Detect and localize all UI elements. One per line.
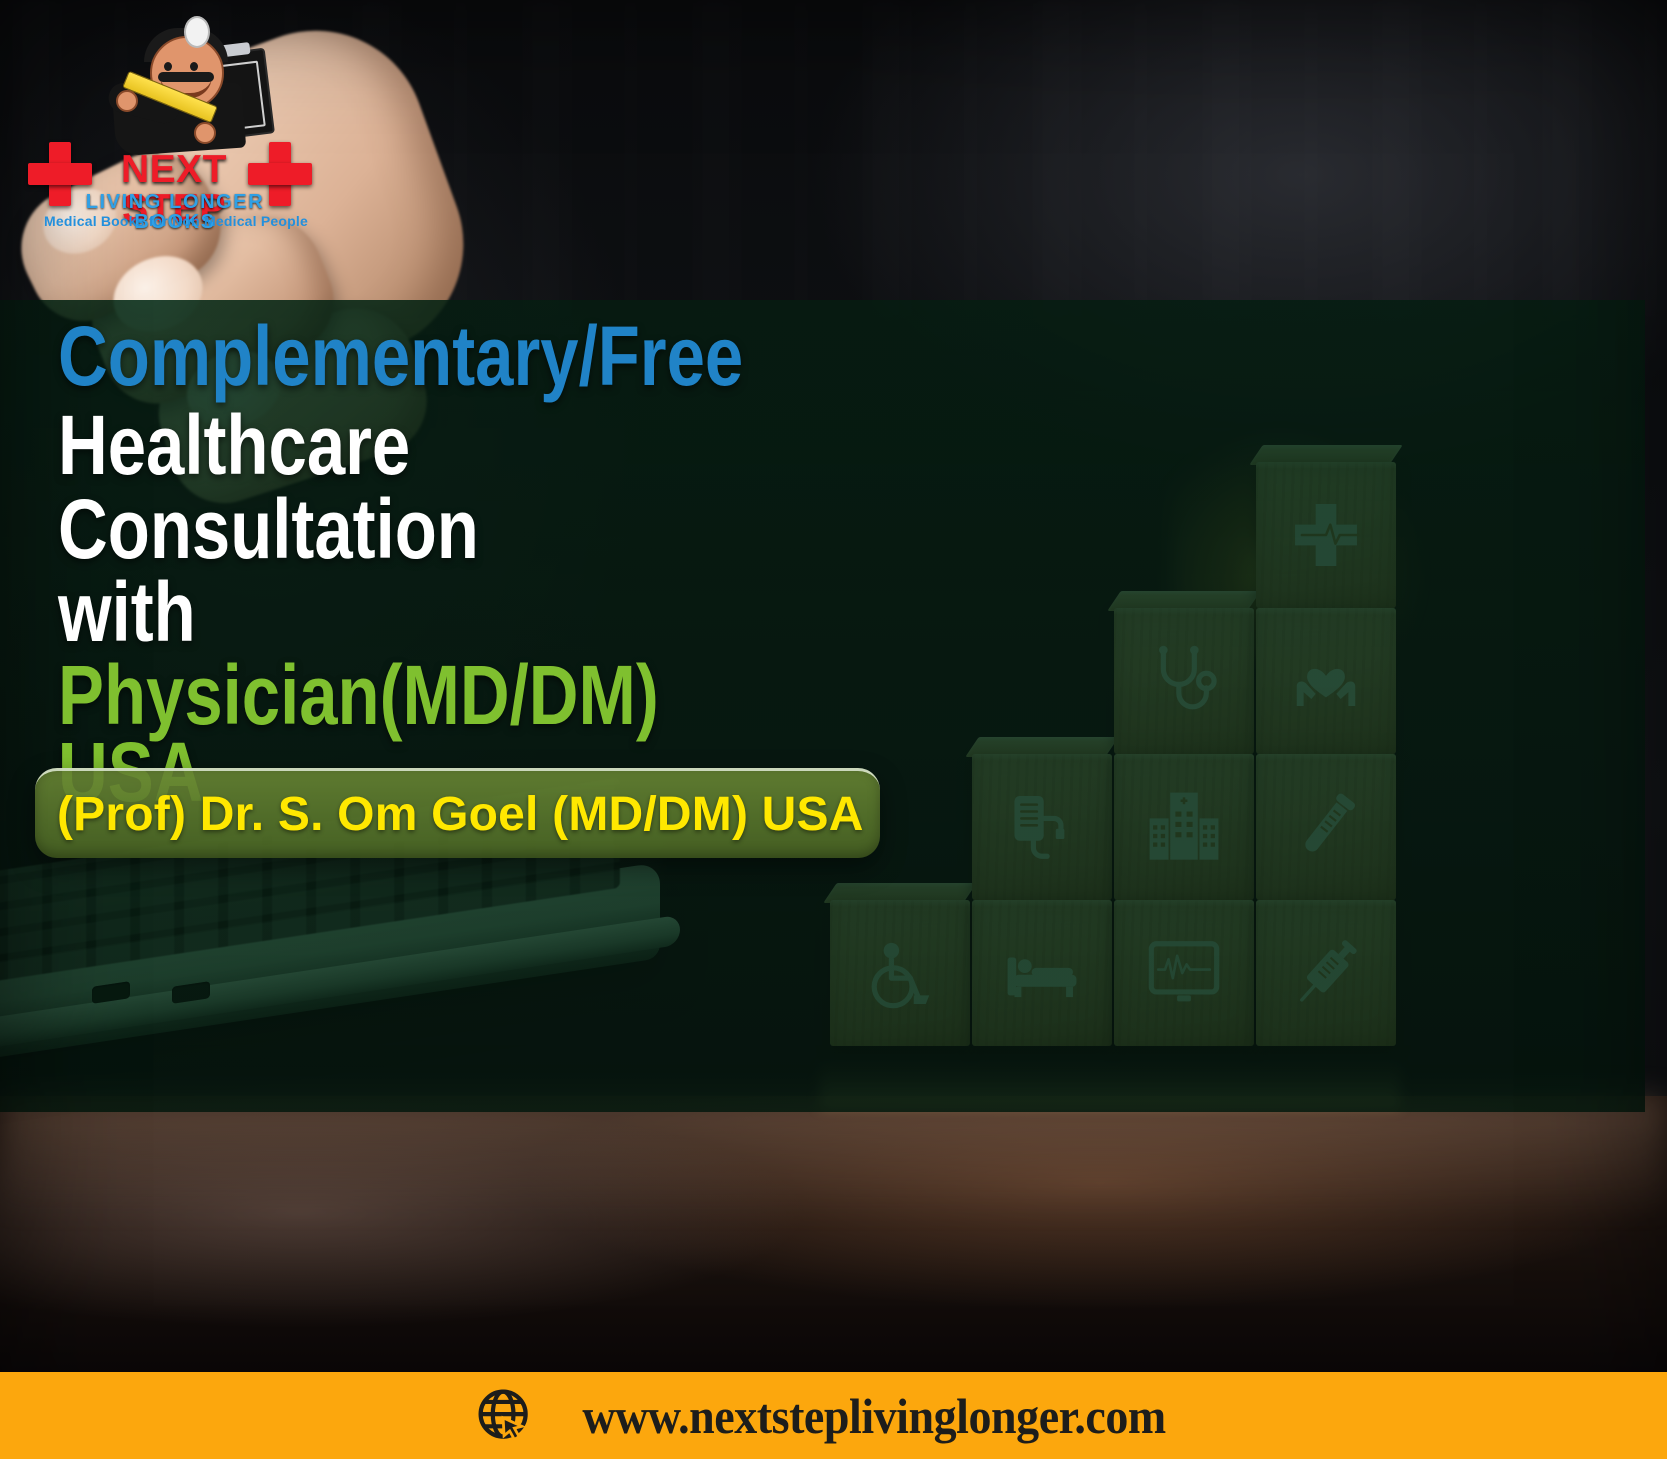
doctor-eye [164, 62, 172, 71]
desk-sheen [0, 1096, 1667, 1216]
website-url[interactable]: www.nextsteplivinglonger.com [583, 1387, 1166, 1445]
footer-bar: www.nextsteplivinglonger.com [0, 1372, 1667, 1459]
headline-line-2: Healthcare [58, 407, 796, 484]
doctor-name-badge: (Prof) Dr. S. Om Goel (MD/DM) USA [35, 768, 880, 858]
doctor-moustache [158, 72, 214, 82]
poster-canvas: NEXT STEP LIVING LONGER BOOKS Medical Bo… [0, 0, 1667, 1459]
head-mirror-icon [184, 16, 210, 48]
headline-line-1: Complementary/Free [58, 318, 796, 395]
logo-subtagline: Medical Books for Non Medical People [40, 214, 312, 228]
doctor-hand [194, 122, 216, 144]
doctor-eye [190, 62, 198, 71]
headline-line-4: with [58, 574, 796, 651]
brand-logo[interactable]: NEXT STEP LIVING LONGER BOOKS Medical Bo… [20, 14, 320, 229]
globe-with-cursor-icon [475, 1386, 535, 1446]
doctor-mascot-illustration [98, 14, 268, 154]
headline-line-3: Consultation [58, 491, 796, 568]
headline-block: Complementary/Free Healthcare Consultati… [58, 318, 958, 812]
doctor-name-text: (Prof) Dr. S. Om Goel (MD/DM) USA [35, 787, 864, 842]
doctor-hand [116, 90, 138, 112]
